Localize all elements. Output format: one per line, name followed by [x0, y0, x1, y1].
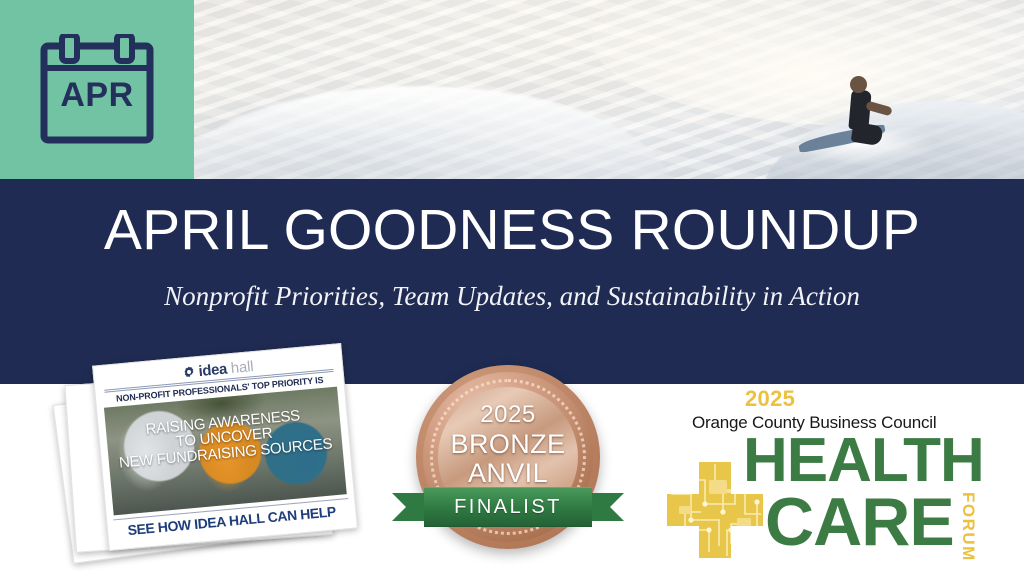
month-label: APR	[38, 76, 156, 115]
top-strip: APR	[0, 0, 1024, 180]
page-subtitle: Nonprofit Priorities, Team Updates, and …	[80, 279, 944, 315]
hcf-title-care: CARE	[765, 488, 954, 556]
bronze-anvil-medal[interactable]: 2025 BRONZE ANVIL FINALIST	[392, 365, 624, 565]
month-badge: APR	[0, 0, 194, 179]
hero-photo	[194, 0, 1024, 180]
logo-text-idea: idea	[198, 360, 228, 380]
medal-award-line-1: BRONZE	[451, 430, 566, 459]
logo-text-hall: hall	[230, 358, 254, 377]
newsletter-banner: APR APRIL GOODNESS ROUNDUP Nonprofit Pri…	[0, 0, 1024, 574]
calendar-icon: APR	[38, 34, 156, 146]
medal-year: 2025	[480, 403, 535, 427]
medal-award-line-2: ANVIL	[468, 459, 548, 488]
hcf-title-health: HEALTH	[743, 430, 984, 492]
surfer-head	[850, 76, 867, 93]
hcf-year: 2025	[745, 388, 795, 410]
newspaper-photo: RAISING AWARENESS TO UNCOVER NEW FUNDRAI…	[104, 387, 347, 516]
surfer-silhouette	[804, 76, 924, 164]
healthcare-forum-logo[interactable]: 2025 Orange County Business Council HEAL…	[665, 388, 1013, 564]
badges-row: SEE HOW IDEA HALL CAN HELP idea hall NON…	[0, 384, 1024, 574]
ribbon-band: FINALIST	[424, 487, 592, 527]
page-title: APRIL GOODNESS ROUNDUP	[0, 201, 1024, 261]
newspaper-front-sheet[interactable]: idea hall NON-PROFIT PROFESSIONALS' TOP …	[92, 343, 358, 551]
circuit-cross-icon	[665, 460, 765, 560]
hcf-forum-label: FORUM	[958, 492, 978, 562]
newspaper-stack[interactable]: SEE HOW IDEA HALL CAN HELP idea hall NON…	[56, 348, 356, 563]
gear-icon	[182, 365, 195, 378]
ribbon-label: FINALIST	[454, 496, 562, 519]
medal-ribbon: FINALIST	[392, 487, 624, 527]
